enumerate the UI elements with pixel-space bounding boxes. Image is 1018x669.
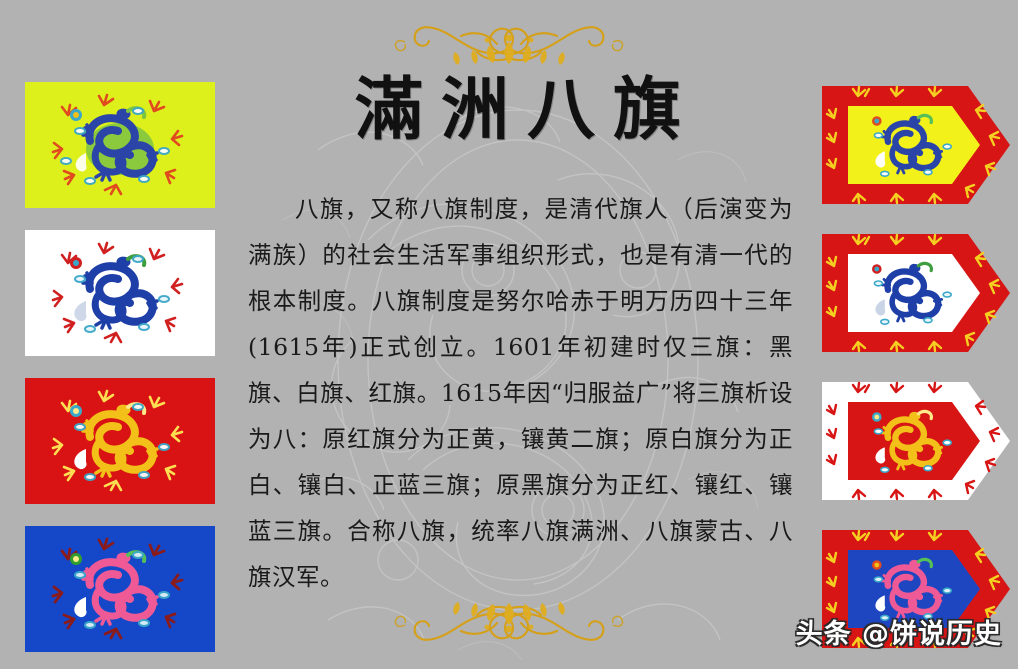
bordered-banner-red xyxy=(818,376,1014,506)
site-watermark: 头条 @饼说历史 xyxy=(796,612,1002,651)
poster-canvas: 滿洲八旗 八旗，又称八旗制度，是清代旗人（后演变为满族）的社会生活军事组织形式，… xyxy=(0,0,1018,669)
bordered-banner-yellow xyxy=(818,80,1014,210)
body-paragraph: 八旗，又称八旗制度，是清代旗人（后演变为满族）的社会生活军事组织形式，也是有清一… xyxy=(248,186,793,600)
page-title: 滿洲八旗 xyxy=(258,76,778,144)
gold-filigree-ornament-top xyxy=(389,2,629,66)
gold-filigree-ornament-bottom xyxy=(389,601,629,665)
plain-banner-yellow xyxy=(25,82,215,208)
plain-banner-blue xyxy=(25,526,215,652)
bordered-banner-white xyxy=(818,228,1014,358)
plain-banner-red xyxy=(25,378,215,504)
plain-banner-white xyxy=(25,230,215,356)
